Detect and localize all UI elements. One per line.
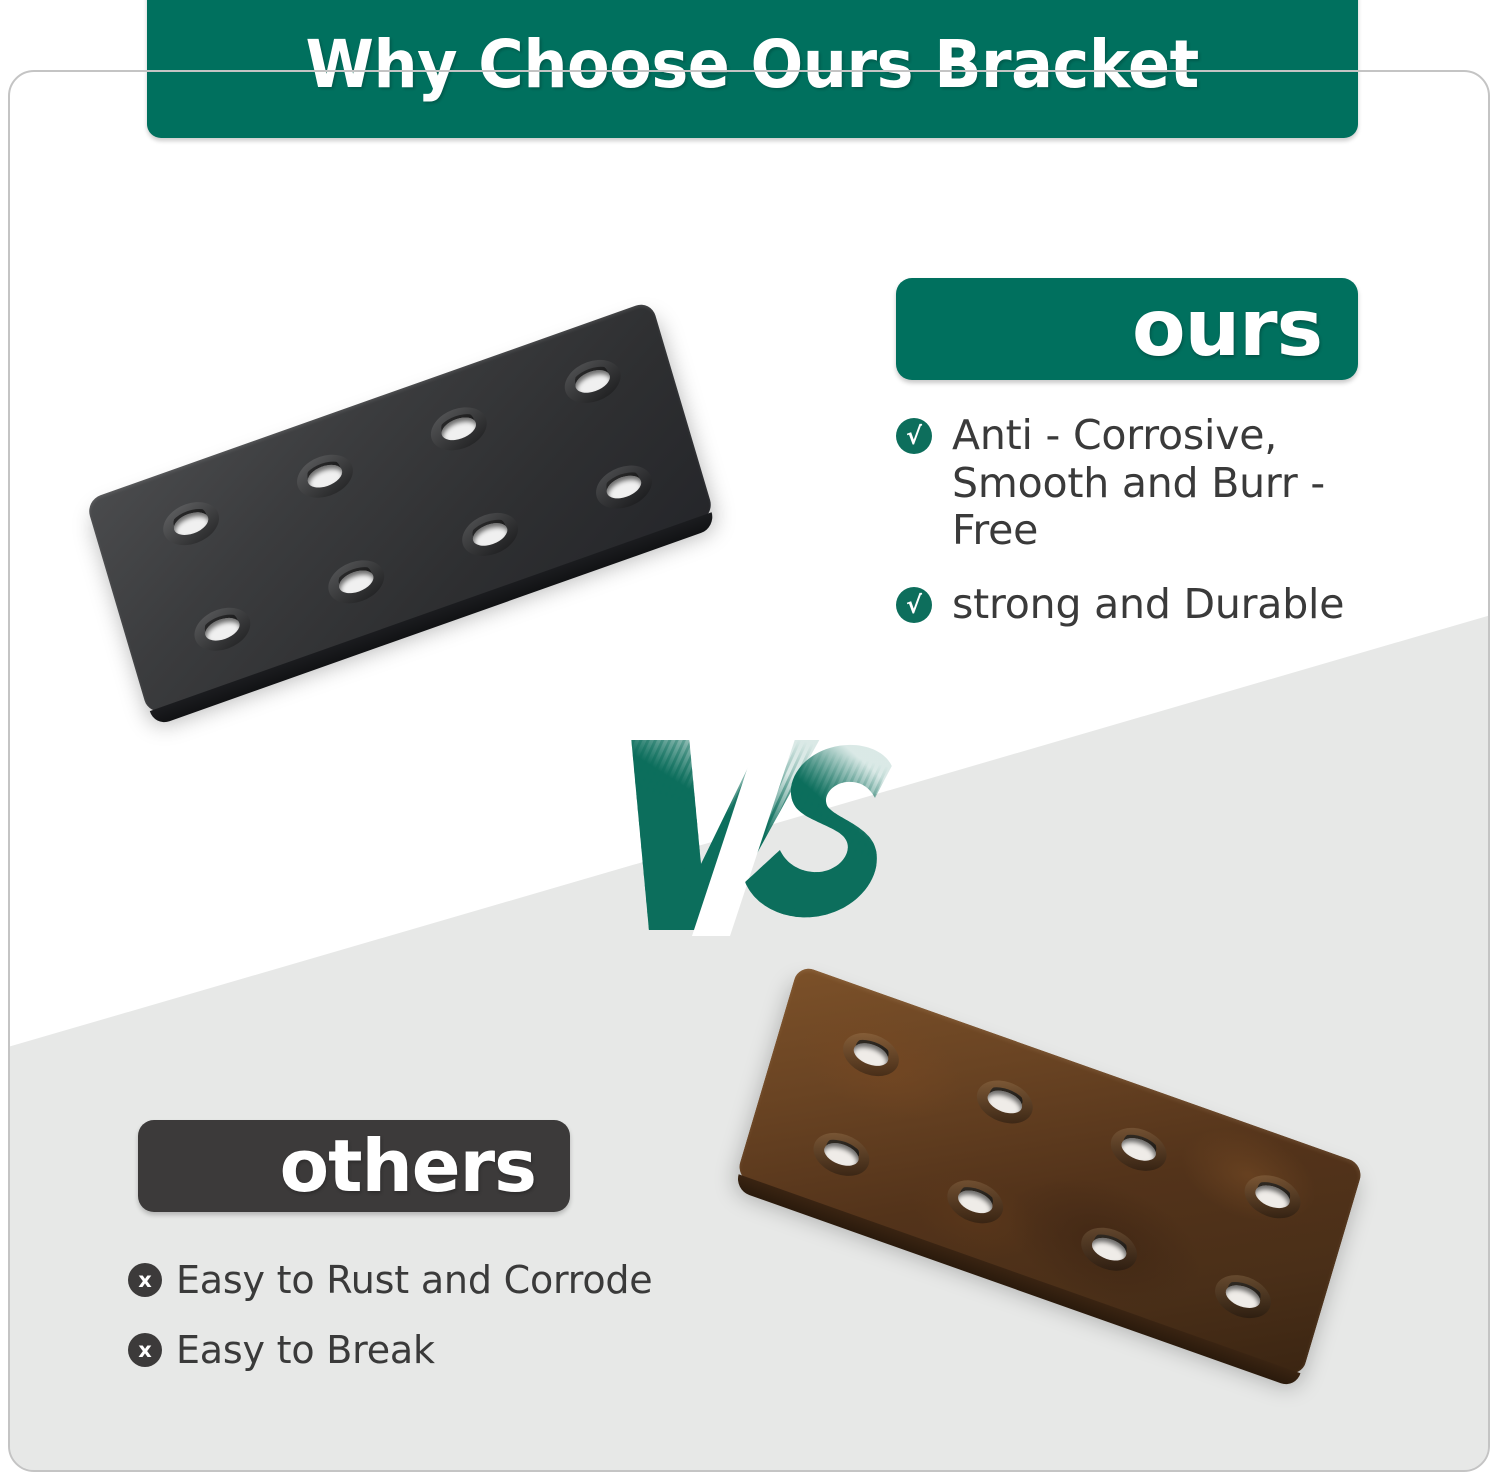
ours-feature-label: Anti - Corrosive, Smooth and Burr - Free [952, 412, 1416, 555]
rusty-bracket-plate [736, 964, 1365, 1377]
screw-hole [1113, 1129, 1164, 1169]
screw-hole [816, 1134, 867, 1174]
screw-hole [950, 1182, 1001, 1222]
screw-hole [197, 609, 248, 649]
screw-hole [300, 456, 351, 496]
screw-hole [979, 1082, 1030, 1122]
screw-hole [599, 467, 650, 507]
ours-badge: ours [896, 278, 1358, 380]
list-item: x Easy to Rust and Corrode [128, 1258, 688, 1302]
others-badge: others [138, 1120, 570, 1212]
page-title: Why Choose Ours Bracket [306, 32, 1199, 138]
others-badge-label: others [280, 1130, 536, 1202]
cross-icon: x [128, 1263, 162, 1297]
screw-hole [465, 514, 516, 554]
ours-feature-list: √ Anti - Corrosive, Smooth and Burr - Fr… [896, 412, 1416, 654]
check-icon: √ [896, 418, 932, 454]
title-banner: Why Choose Ours Bracket [147, 0, 1358, 138]
infographic-canvas: Why Choose Ours Bracket ours √ Anti - Co… [0, 0, 1500, 1481]
ours-product-image [58, 246, 758, 766]
screw-hole [1218, 1276, 1269, 1316]
list-item: √ Anti - Corrosive, Smooth and Burr - Fr… [896, 412, 1416, 555]
screw-hole [567, 361, 618, 401]
others-feature-label: Easy to Break [176, 1328, 435, 1372]
ours-feature-label: strong and Durable [952, 581, 1344, 629]
screw-hole [331, 562, 382, 602]
screw-hole [846, 1034, 897, 1074]
black-bracket-plate [85, 300, 714, 715]
screw-hole [166, 503, 217, 543]
vs-divider-graphic [612, 718, 892, 938]
screw-hole [433, 409, 484, 449]
check-icon: √ [896, 587, 932, 623]
screw-hole [1084, 1229, 1135, 1269]
others-feature-list: x Easy to Rust and Corrode x Easy to Bre… [128, 1258, 688, 1398]
list-item: √ strong and Durable [896, 581, 1416, 629]
others-feature-label: Easy to Rust and Corrode [176, 1258, 653, 1302]
ours-badge-label: ours [1132, 290, 1322, 368]
cross-icon: x [128, 1333, 162, 1367]
screw-hole [1247, 1177, 1298, 1217]
others-product-image [690, 940, 1450, 1410]
list-item: x Easy to Break [128, 1328, 688, 1372]
